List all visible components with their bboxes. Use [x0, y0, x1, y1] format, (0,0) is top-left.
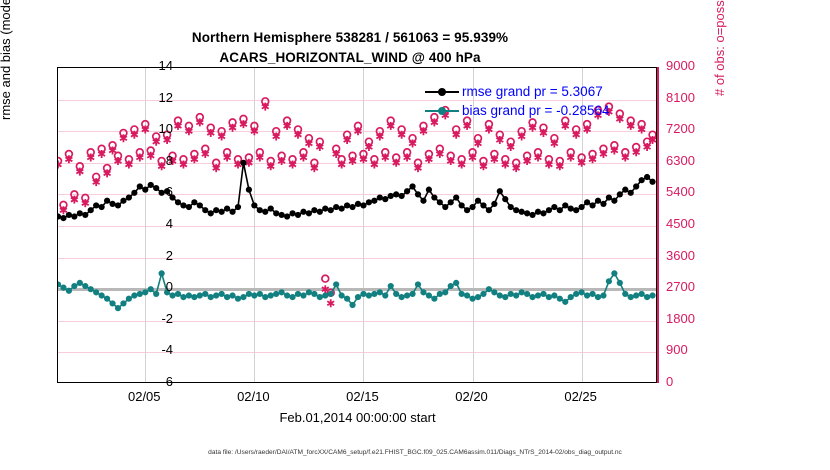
y-axis-label-left: rmse and bias (model - observation) [0, 0, 13, 120]
y-tick-label-left: 14 [113, 58, 173, 73]
title-line-1: Northern Hemisphere 538281 / 561063 = 95… [0, 28, 700, 48]
rmse-line-swatch-icon [425, 86, 459, 97]
x-tick-label: 02/20 [432, 389, 512, 404]
title-line-2: ACARS_HORIZONTAL_WIND @ 400 hPa [0, 48, 700, 68]
y-tick-label-right: 6300 [666, 153, 726, 168]
y-tick-label-right: 4500 [666, 216, 726, 231]
y-tick-label-left: 10 [113, 121, 173, 136]
y-tick-label-left: -4 [113, 342, 173, 357]
x-axis-label: Feb.01,2014 00:00:00 start [0, 410, 715, 425]
y-tick-label-right: 2700 [666, 279, 726, 294]
y-tick-label-right: 7200 [666, 121, 726, 136]
legend-label-bias: bias grand pr = -0.28564 [462, 103, 609, 118]
x-tick-label: 02/25 [541, 389, 621, 404]
y-tick-label-left: -2 [113, 311, 173, 326]
chart-title: Northern Hemisphere 538281 / 561063 = 95… [0, 28, 700, 68]
x-tick-label: 02/05 [104, 389, 184, 404]
x-tick-label: 02/15 [322, 389, 402, 404]
legend-item-rmse: rmse grand pr = 5.3067 [425, 82, 655, 101]
x-tick-label: 02/10 [213, 389, 293, 404]
legend-item-bias: bias grand pr = -0.28564 [425, 101, 655, 120]
data-file-footer: data file: /Users/raeder/DAI/ATM_forcXX/… [0, 449, 830, 456]
y-tick-label-right: 0 [666, 374, 726, 389]
y-axis-label-right: # of obs: o=possible; x=assimilated [712, 0, 727, 96]
y-tick-label-left: 12 [113, 90, 173, 105]
y-tick-label-right: 1800 [666, 311, 726, 326]
bias-line-swatch-icon [425, 105, 459, 116]
y-tick-label-right: 3600 [666, 248, 726, 263]
y-tick-label-left: 8 [113, 153, 173, 168]
legend-label-rmse: rmse grand pr = 5.3067 [462, 84, 603, 99]
chart-legend: rmse grand pr = 5.3067 bias grand pr = -… [425, 82, 655, 120]
y-tick-label-right: 900 [666, 342, 726, 357]
y-tick-label-left: 2 [113, 248, 173, 263]
y-tick-label-right: 5400 [666, 184, 726, 199]
y-tick-label-left: 4 [113, 216, 173, 231]
y-tick-label-left: 6 [113, 184, 173, 199]
right-axis-line [657, 67, 659, 383]
y-tick-label-left: 0 [113, 279, 173, 294]
y-tick-label-left: -6 [113, 374, 173, 389]
